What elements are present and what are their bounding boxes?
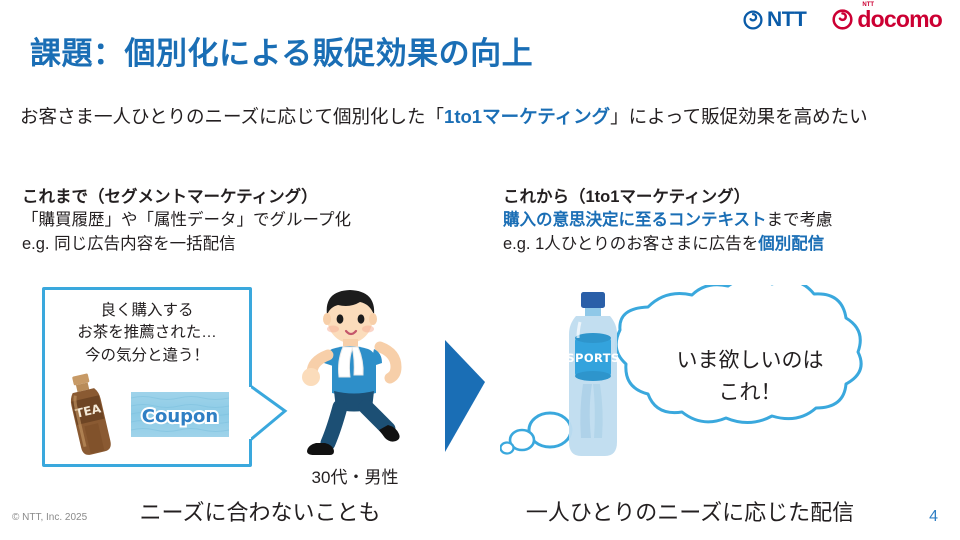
right-heading-line3-blue: 個別配信 <box>758 235 824 253</box>
left-heading-line2: e.g. 同じ広告内容を一括配信 <box>22 233 351 256</box>
docomo-superscript: NTT <box>862 2 874 8</box>
lead-part1: お客さま一人ひとりのニーズに応じて個別化した「 <box>20 106 444 127</box>
left-heading-line1: 「購買履歴」や「属性データ」でグループ化 <box>22 209 351 232</box>
speech-bubble-tail <box>249 383 291 445</box>
speech-line-3: 今の気分と違う！ <box>45 345 249 367</box>
docomo-circle-icon <box>832 9 853 30</box>
page-title: 課題：個別化による販促効果の向上 <box>30 28 533 73</box>
runner-illustration <box>288 285 423 470</box>
right-heading-line2-blue: 購入の意思決定に至るコンテキスト <box>503 211 767 229</box>
thought-cloud-text: いま欲しいのは これ！ <box>640 345 860 408</box>
ntt-logo-text: NTT <box>767 9 806 30</box>
right-heading-title: これから（1to1マーケティング） <box>503 186 833 209</box>
docomo-logo: docomo NTT <box>832 8 942 31</box>
left-heading-title: これまで（セグメントマーケティング） <box>22 186 351 209</box>
coupon-ticket: Coupon <box>131 392 229 437</box>
copyright-text: © NTT, Inc. 2025 <box>12 512 87 523</box>
page-number: 4 <box>929 508 938 526</box>
docomo-logo-text: docomo <box>857 8 942 31</box>
speech-bubble-text: 良く購入する お茶を推薦された… 今の気分と違う！ <box>45 300 249 367</box>
coupon-label-text: Coupon <box>142 406 218 427</box>
speech-line-1: 良く購入する <box>45 300 249 322</box>
slide-canvas: NTT docomo NTT 課題：個別化による販促効果の向上 お客さま一人ひと… <box>0 0 960 540</box>
lead-highlight: 1to1マーケティング <box>444 106 610 127</box>
left-column-heading: これまで（セグメントマーケティング） 「購買履歴」や「属性データ」でグループ化 … <box>22 186 351 256</box>
right-heading-line2: 購入の意思決定に至るコンテキストまで考慮 <box>503 209 833 232</box>
right-heading-line3-plain: e.g. 1人ひとりのお客さまに広告を <box>503 235 758 253</box>
ntt-logo: NTT <box>743 9 806 30</box>
speech-line-2: お茶を推薦された… <box>45 322 249 344</box>
ntt-circle-icon <box>743 10 763 30</box>
sports-label-text: SPORTS <box>566 351 619 365</box>
right-column-heading: これから（1to1マーケティング） 購入の意思決定に至るコンテキストまで考慮 e… <box>503 186 833 256</box>
cloud-line-2: これ！ <box>640 377 860 409</box>
lead-paragraph: お客さま一人ひとりのニーズに応じて個別化した「1to1マーケティング」によって販… <box>20 102 950 132</box>
sports-drink-bottle-icon: SPORTS <box>556 292 630 464</box>
person-age-caption: 30代・男性 <box>280 463 430 488</box>
lead-part2: 」によって販促効果を高めたい <box>610 106 868 127</box>
transition-arrow-icon <box>443 340 505 455</box>
cloud-line-1: いま欲しいのは <box>640 345 860 377</box>
logo-row: NTT docomo NTT <box>743 8 942 31</box>
right-heading-line2-rest: まで考慮 <box>767 211 833 229</box>
left-bottom-caption: ニーズに合わないことも <box>100 495 420 527</box>
right-bottom-caption: 一人ひとりのニーズに応じた配信 <box>490 495 890 527</box>
right-heading-line3: e.g. 1人ひとりのお客さまに広告を個別配信 <box>503 233 833 256</box>
